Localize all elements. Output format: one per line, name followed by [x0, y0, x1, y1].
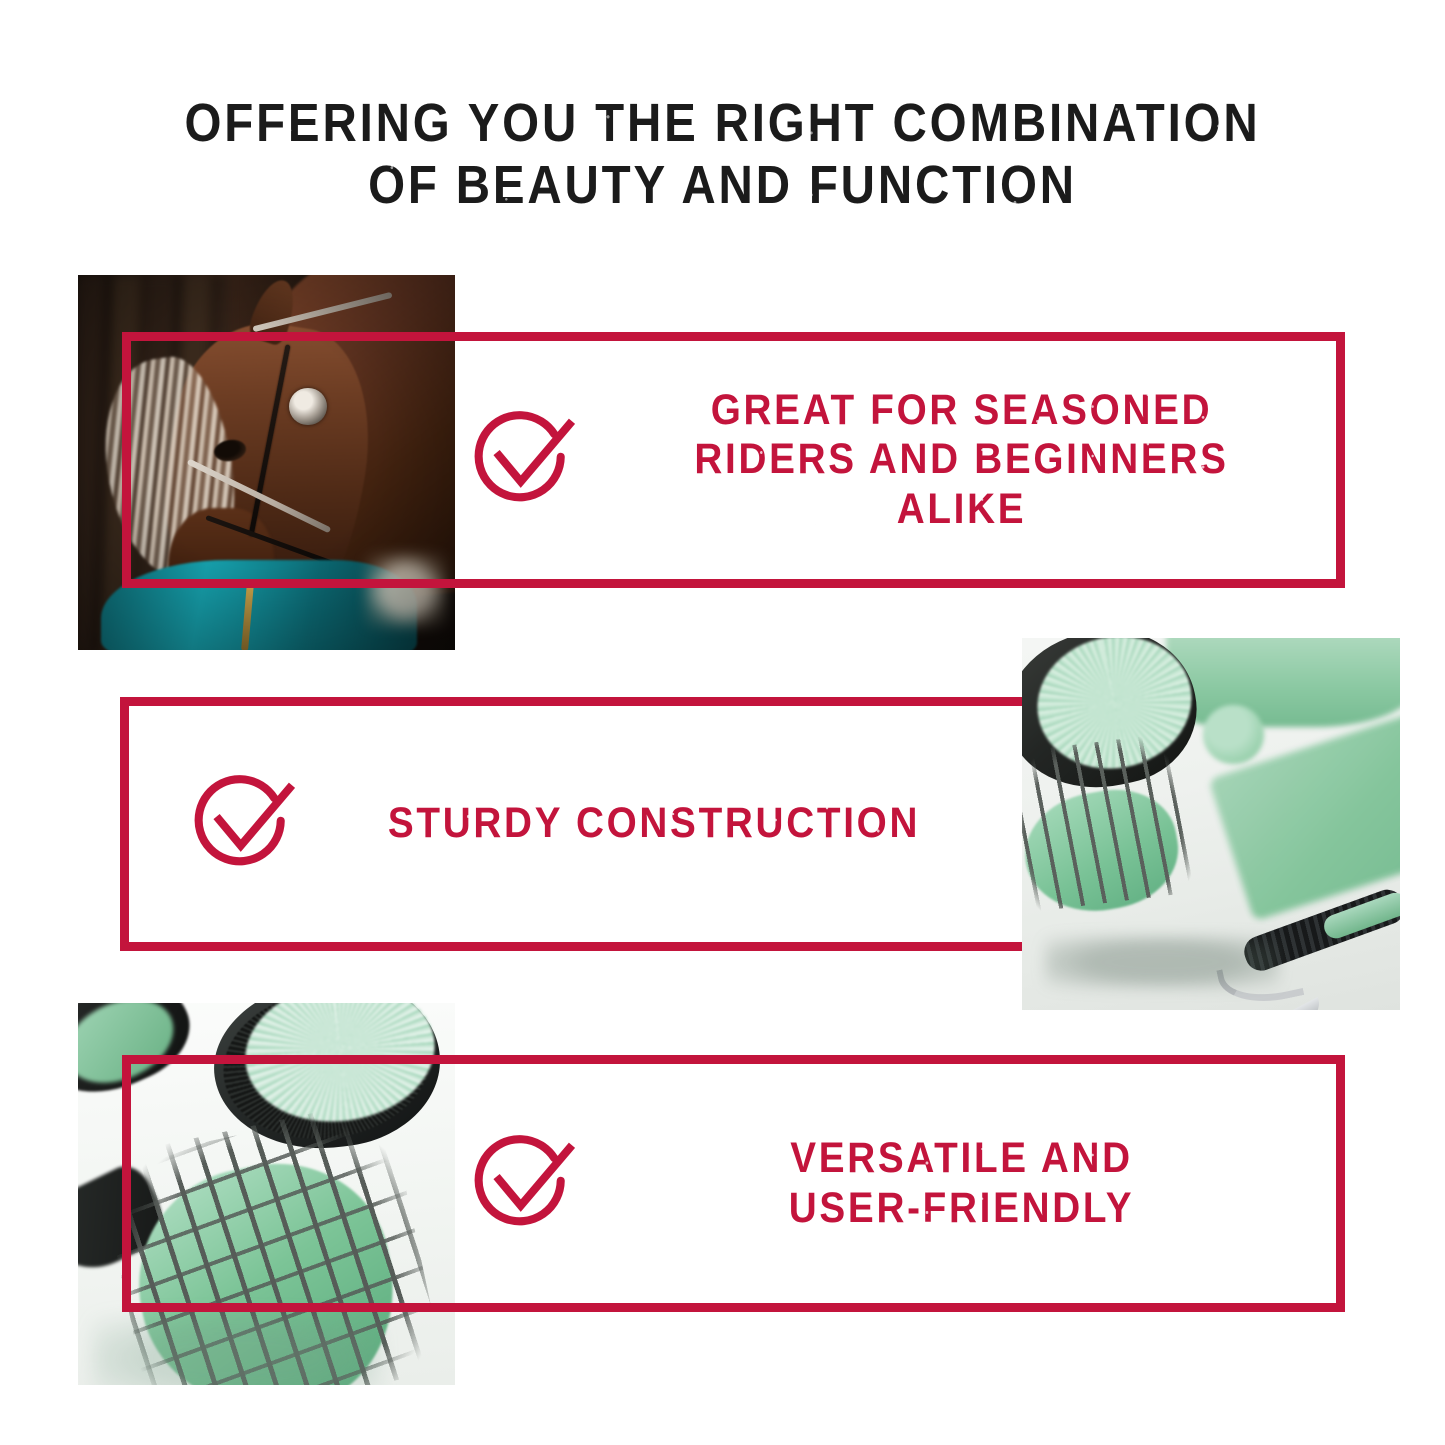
- check-circle-icon: [470, 406, 578, 514]
- feature-3-line-1: VERSATILE AND: [616, 1134, 1306, 1183]
- page-title: OFFERING YOU THE RIGHT COMBINATION OF BE…: [87, 92, 1359, 216]
- check-circle-icon: [190, 770, 298, 878]
- infographic-canvas: OFFERING YOU THE RIGHT COMBINATION OF BE…: [0, 0, 1445, 1445]
- feature-text-3: VERSATILE AND USER-FRIENDLY: [616, 1134, 1306, 1232]
- mint-blob: [1203, 705, 1263, 765]
- feature-image-grooming-kit: [1022, 638, 1400, 1010]
- feature-content-2: STURDY CONSTRUCTION: [190, 697, 1010, 951]
- feature-content-1: GREAT FOR SEASONED RIDERS AND BEGINNERS …: [470, 332, 1345, 588]
- kit-shadow: [1045, 936, 1279, 988]
- pin-brush-pins: [1022, 733, 1194, 913]
- feature-2-line-1: STURDY CONSTRUCTION: [334, 799, 975, 848]
- check-circle-icon: [470, 1130, 578, 1238]
- feature-text-2: STURDY CONSTRUCTION: [334, 799, 975, 848]
- feature-1-line-2: RIDERS AND BEGINNERS: [616, 435, 1306, 484]
- mint-panel-top: [1166, 638, 1400, 727]
- headline-line-1: OFFERING YOU THE RIGHT COMBINATION: [87, 92, 1359, 154]
- pin-brush: [1022, 742, 1188, 921]
- feature-1-line-3: ALIKE: [616, 485, 1306, 534]
- brushes-shadow: [93, 1316, 380, 1385]
- feature-content-3: VERSATILE AND USER-FRIENDLY: [470, 1055, 1345, 1312]
- feature-3-line-2: USER-FRIENDLY: [616, 1184, 1306, 1233]
- headline-line-2: OF BEAUTY AND FUNCTION: [87, 154, 1359, 216]
- feature-text-1: GREAT FOR SEASONED RIDERS AND BEGINNERS …: [616, 386, 1306, 533]
- feature-1-line-1: GREAT FOR SEASONED: [616, 386, 1306, 435]
